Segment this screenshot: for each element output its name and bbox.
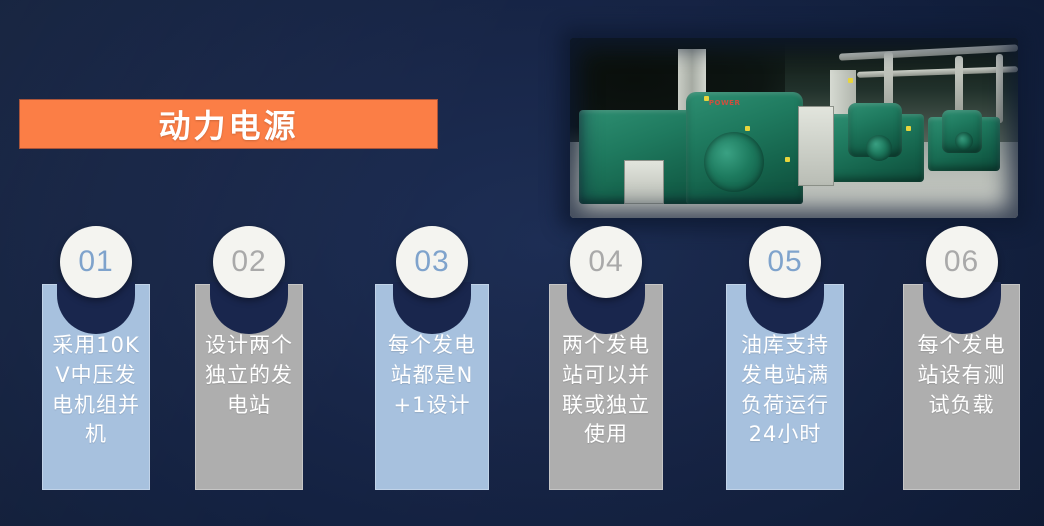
card-text: 油库支持发电站满负荷运行24小时 — [735, 331, 835, 450]
card-number: 04 — [588, 245, 623, 279]
card-number-badge: 02 — [213, 226, 285, 298]
info-card-06[interactable]: 每个发电站设有测试负载 06 — [903, 284, 1020, 490]
info-card-05[interactable]: 油库支持发电站满负荷运行24小时 05 — [726, 284, 844, 490]
card-number: 03 — [414, 245, 449, 279]
card-number-badge: 03 — [396, 226, 468, 298]
card-number: 01 — [78, 245, 113, 279]
info-card-01[interactable]: 采用10KV中压发电机组并机 01 — [42, 284, 150, 490]
card-number: 05 — [767, 245, 802, 279]
card-number: 02 — [231, 245, 266, 279]
card-text: 设计两个独立的发电站 — [203, 331, 294, 420]
info-card-02[interactable]: 设计两个独立的发电站 02 — [195, 284, 303, 490]
card-number-badge: 04 — [570, 226, 642, 298]
card-number-badge: 06 — [926, 226, 998, 298]
card-text: 每个发电站都是N+1设计 — [384, 331, 480, 420]
card-number: 06 — [944, 245, 979, 279]
card-text: 每个发电站设有测试负载 — [912, 331, 1011, 420]
card-row: 采用10KV中压发电机组并机 01 设计两个独立的发电站 02 每个发电站都是N… — [0, 0, 1044, 526]
slide-canvas: 动力电源 — [0, 0, 1044, 526]
info-card-04[interactable]: 两个发电站可以并联或独立使用 04 — [549, 284, 663, 490]
info-card-03[interactable]: 每个发电站都是N+1设计 03 — [375, 284, 489, 490]
card-number-badge: 01 — [60, 226, 132, 298]
card-number-badge: 05 — [749, 226, 821, 298]
card-text: 两个发电站可以并联或独立使用 — [558, 331, 654, 450]
card-text: 采用10KV中压发电机组并机 — [50, 331, 141, 450]
